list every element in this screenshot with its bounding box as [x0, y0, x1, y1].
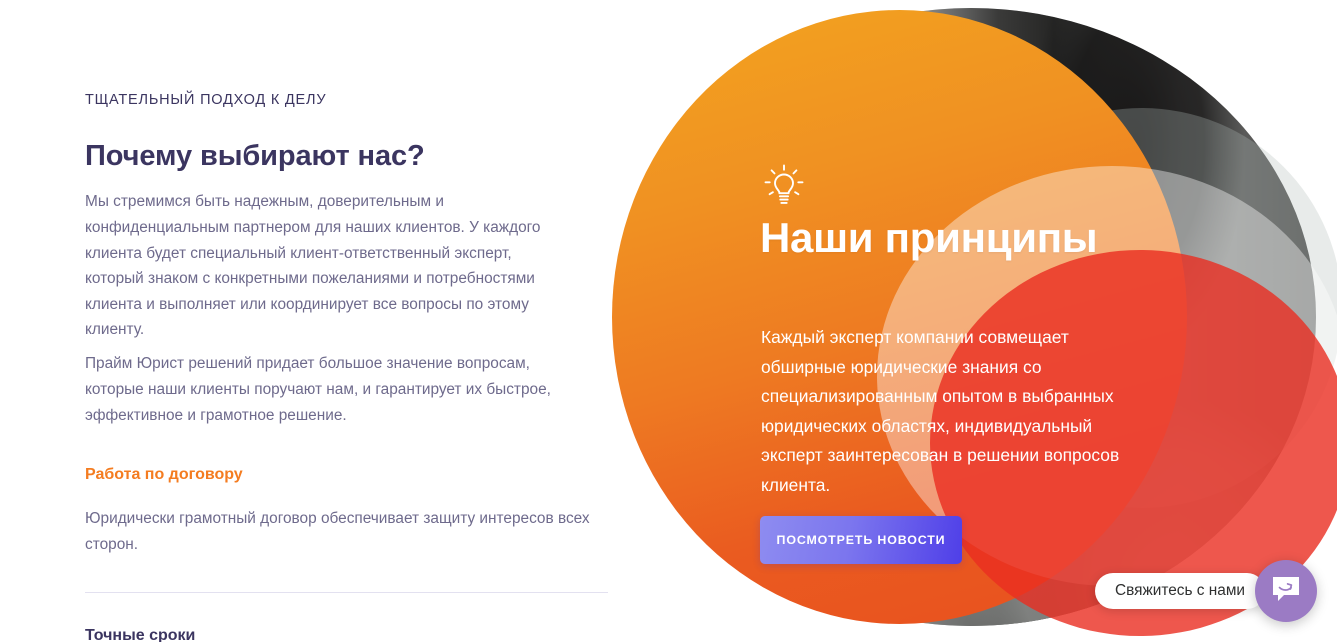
chat-bubble-icon [1270, 575, 1302, 608]
accordion-title-contract[interactable]: Работа по договору [85, 466, 608, 484]
left-content-column: ТЩАТЕЛЬНЫЙ ПОДХОД К ДЕЛУ Почему выбирают… [85, 0, 610, 642]
principles-content: Наши принципы Каждый эксперт компании со… [612, 0, 1337, 642]
principles-panel: Наши принципы Каждый эксперт компании со… [612, 0, 1337, 642]
lightbulb-icon [761, 160, 807, 212]
principles-title: Наши принципы [760, 214, 1097, 262]
chat-widget[interactable]: Свяжитесь с нами [1095, 560, 1317, 622]
spacer [85, 593, 608, 627]
page-title: Почему выбирают нас? [85, 140, 425, 173]
accordion-list: Работа по договору Юридически грамотный … [85, 466, 608, 642]
section-eyebrow: ТЩАТЕЛЬНЫЙ ПОДХОД К ДЕЛУ [85, 92, 326, 108]
principles-body: Каждый эксперт компании совмещает обширн… [761, 323, 1121, 500]
view-news-button[interactable]: ПОСМОТРЕТЬ НОВОСТИ [760, 516, 962, 564]
intro-paragraph-2: Прайм Юрист решений придает большое знач… [85, 351, 555, 428]
accordion-body-contract: Юридически грамотный договор обеспечивае… [85, 506, 608, 557]
accordion-item-contract[interactable]: Работа по договору Юридически грамотный … [85, 466, 608, 557]
accordion-title-deadlines[interactable]: Точные сроки [85, 627, 608, 642]
intro-paragraph-1: Мы стремимся быть надежным, доверительны… [85, 189, 555, 343]
chat-open-button[interactable] [1255, 560, 1317, 622]
chat-label[interactable]: Свяжитесь с нами [1095, 573, 1265, 609]
page-root: ТЩАТЕЛЬНЫЙ ПОДХОД К ДЕЛУ Почему выбирают… [0, 0, 1337, 642]
spacer [85, 557, 608, 592]
accordion-item-deadlines[interactable]: Точные сроки [85, 627, 608, 642]
